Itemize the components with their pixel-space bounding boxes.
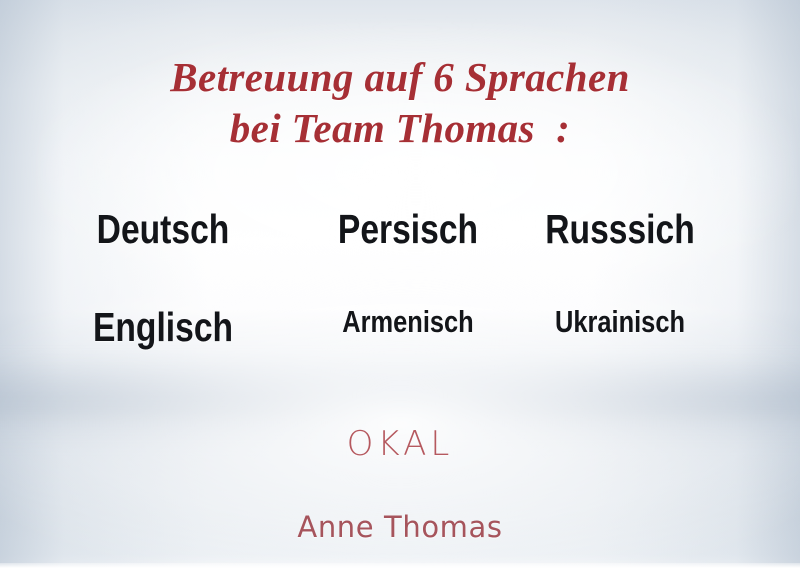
language-list: Deutsch Persisch Russsich Englisch Armen… (0, 206, 800, 402)
language-englisch: Englisch (65, 304, 262, 351)
language-armenisch: Armenisch (310, 304, 507, 340)
organization-name: OKAL (0, 424, 800, 464)
headline-line-2: bei Team Thomas : (0, 103, 800, 154)
headline: Betreuung auf 6 Sprachen bei Team Thomas… (0, 52, 800, 154)
poster-canvas: Betreuung auf 6 Sprachen bei Team Thomas… (0, 0, 800, 572)
language-ukrainisch: Ukrainisch (522, 304, 719, 340)
language-row-2: Englisch Armenisch Ukrainisch (0, 304, 800, 402)
language-row-1: Deutsch Persisch Russsich (0, 206, 800, 304)
headline-line-1: Betreuung auf 6 Sprachen (0, 52, 800, 103)
language-deutsch: Deutsch (65, 206, 262, 253)
poster-content: Betreuung auf 6 Sprachen bei Team Thomas… (0, 0, 800, 572)
language-russsich: Russsich (522, 206, 719, 253)
signature-name: Anne Thomas (0, 510, 800, 544)
language-persisch: Persisch (310, 206, 507, 253)
